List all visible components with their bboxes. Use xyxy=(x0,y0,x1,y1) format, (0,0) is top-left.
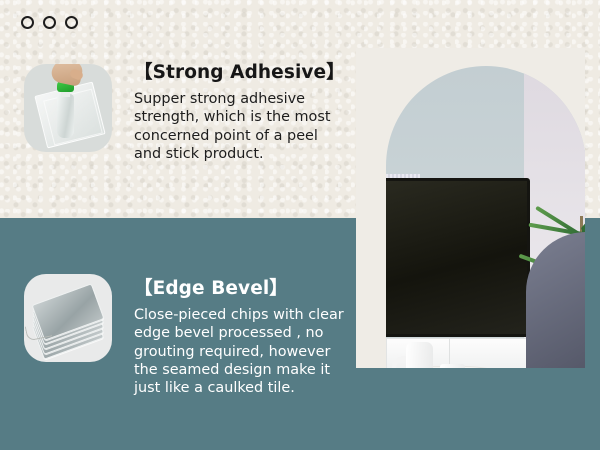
room-photo-inner xyxy=(356,48,585,368)
infographic-canvas: 【Strong Adhesive】 Supper strong adhesive… xyxy=(0,0,600,450)
arched-accent-wall xyxy=(386,66,585,368)
feature-body-edge-bevel: Close-pieced chips with clear edge bevel… xyxy=(134,306,349,397)
feature-thumbnail-edge-bevel xyxy=(24,274,112,362)
feature-thumbnail-strong-adhesive xyxy=(24,64,112,152)
feature-heading-edge-bevel: 【Edge Bevel】 xyxy=(134,278,349,299)
window-dot-icon-1 xyxy=(21,16,34,29)
window-dots xyxy=(21,16,78,29)
feature-heading-strong-adhesive: 【Strong Adhesive】 xyxy=(134,62,349,83)
room-photo xyxy=(356,48,585,368)
tile-chip-stack xyxy=(30,280,106,356)
white-mug xyxy=(440,364,465,368)
feature-text-strong-adhesive: 【Strong Adhesive】 Supper strong adhesive… xyxy=(134,62,349,163)
feature-text-edge-bevel: 【Edge Bevel】 Close-pieced chips with cle… xyxy=(134,278,349,397)
white-jug xyxy=(406,342,433,368)
window-dot-icon-3 xyxy=(65,16,78,29)
feature-body-strong-adhesive: Supper strong adhesive strength, which i… xyxy=(134,90,349,163)
wall-mounted-tv xyxy=(386,178,530,337)
adhesive-bottle-shape xyxy=(57,94,74,138)
window-dot-icon-2 xyxy=(43,16,56,29)
